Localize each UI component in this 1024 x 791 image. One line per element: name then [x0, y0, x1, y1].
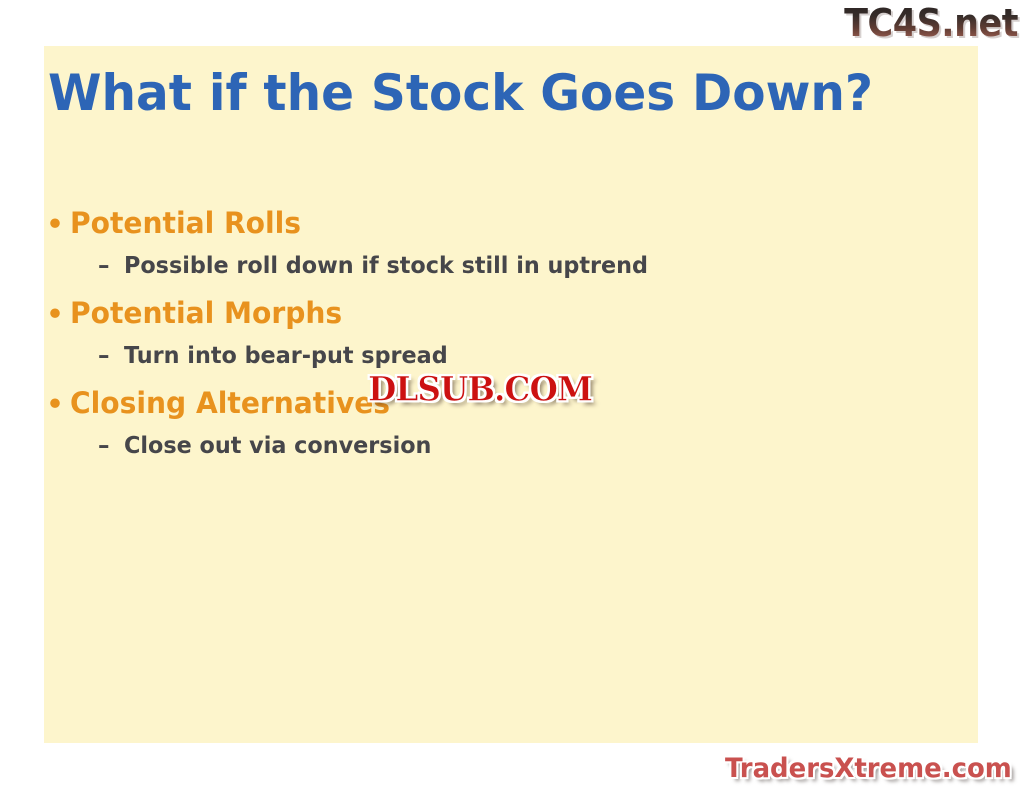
bullet-item-potential-morphs: • Potential Morphs — [40, 294, 910, 334]
bullet-group-2: • Potential Morphs – Turn into bear-put … — [40, 294, 910, 372]
bullet-group-1: • Potential Rolls – Possible roll down i… — [40, 204, 910, 282]
bullet-label: Potential Rolls — [70, 204, 301, 242]
sub-bullet-dash-icon: – — [98, 430, 124, 462]
sub-bullet-label: Possible roll down if stock still in upt… — [124, 250, 648, 282]
sub-bullet-item-roll-down: – Possible roll down if stock still in u… — [40, 250, 910, 282]
bullet-label: Closing Alternatives — [70, 384, 390, 422]
bullet-item-potential-rolls: • Potential Rolls — [40, 204, 910, 244]
site-logo-tc4s: TC4S.net — [844, 2, 1018, 44]
bullet-dot-icon: • — [40, 386, 70, 424]
sub-bullet-dash-icon: – — [98, 340, 124, 372]
bullet-label: Potential Morphs — [70, 294, 342, 332]
sub-bullet-item-bear-put-spread: – Turn into bear-put spread — [40, 340, 910, 372]
sub-bullet-dash-icon: – — [98, 250, 124, 282]
footer-brand-tradersxtreme: TradersXtreme.com — [725, 753, 1012, 785]
bullet-dot-icon: • — [40, 206, 70, 244]
bullet-list: • Potential Rolls – Possible roll down i… — [40, 204, 910, 474]
bullet-dot-icon: • — [40, 296, 70, 334]
slide-title: What if the Stock Goes Down? — [48, 64, 873, 122]
slide-canvas: TC4S.net TC4S.net What if the Stock Goes… — [0, 0, 1024, 791]
sub-bullet-item-close-out-conversion: – Close out via conversion — [40, 430, 910, 462]
watermark-dlsub: DLSUB.COM — [368, 371, 592, 408]
sub-bullet-label: Close out via conversion — [124, 430, 431, 462]
sub-bullet-label: Turn into bear-put spread — [124, 340, 448, 372]
